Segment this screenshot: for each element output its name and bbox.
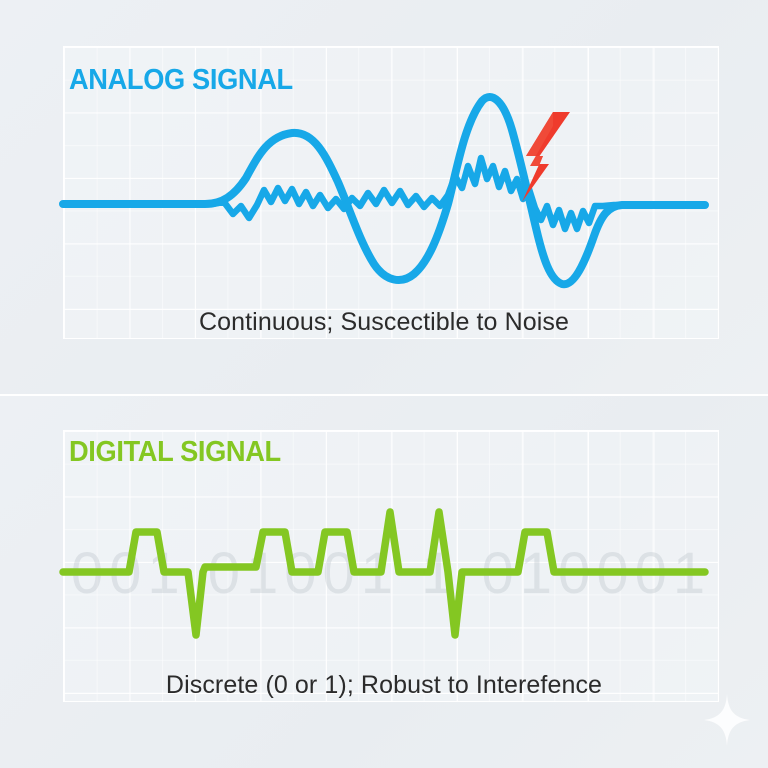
analog-panel-heading: ANALOG SIGNAL <box>69 66 293 95</box>
panel-divider <box>0 394 768 396</box>
analog-interference-bolt <box>522 112 570 202</box>
analog-noise-path <box>63 158 705 229</box>
infographic-canvas: ANALOG SIGNAL Continuous; Suscectible to… <box>0 0 768 768</box>
sparkle-icon <box>704 694 750 746</box>
digital-panel-heading: DIGITAL SIGNAL <box>69 438 281 467</box>
digital-square-wave-path <box>63 512 705 635</box>
analog-signal-panel: ANALOG SIGNAL Continuous; Suscectible to… <box>0 0 768 395</box>
digital-signal-panel: DIGITAL SIGNAL 001 01001 1 010001 Discre… <box>0 396 768 768</box>
analog-panel-caption: Continuous; Suscectible to Noise <box>0 308 768 337</box>
digital-panel-caption: Discrete (0 or 1); Robust to Interefence <box>0 671 768 700</box>
